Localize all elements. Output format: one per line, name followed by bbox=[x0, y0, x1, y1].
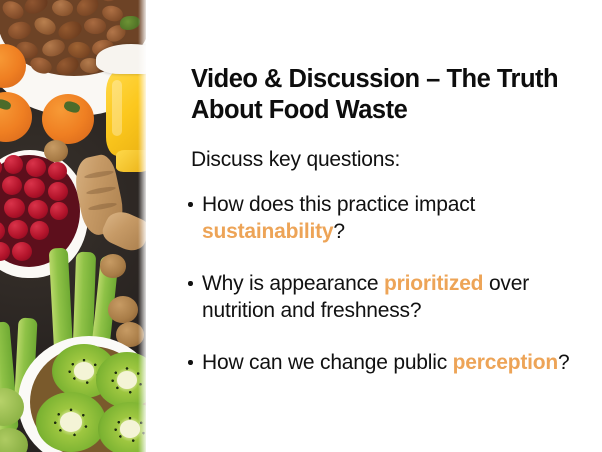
cranberry bbox=[8, 220, 28, 239]
bullet-highlight: prioritized bbox=[384, 272, 483, 295]
bullet-text-post: ? bbox=[558, 351, 569, 374]
bullet-dot-icon bbox=[188, 360, 193, 365]
food-photo-panel bbox=[0, 0, 146, 452]
cranberry bbox=[4, 198, 25, 218]
kiwi-slice bbox=[36, 392, 106, 452]
cranberry bbox=[2, 176, 22, 195]
bullet-dot-icon bbox=[188, 281, 193, 286]
bullet-highlight: sustainability bbox=[202, 220, 333, 243]
slide-lead-text: Discuss key questions: bbox=[191, 146, 400, 173]
photo-edge-fade bbox=[138, 0, 146, 452]
slide-title: Video & Discussion – The Truth About Foo… bbox=[191, 64, 566, 126]
cranberry bbox=[48, 162, 67, 180]
kiwi-seeds bbox=[49, 403, 94, 441]
cranberry bbox=[4, 155, 23, 174]
list-item: Why is appearance prioritized over nutri… bbox=[188, 270, 578, 324]
walnut bbox=[100, 254, 126, 278]
bullet-text-post: ? bbox=[333, 220, 344, 243]
bullet-text-pre: How can we change public bbox=[202, 351, 453, 374]
discussion-question-list: How does this practice impact sustainabi… bbox=[188, 191, 578, 376]
list-item: How can we change public perception? bbox=[188, 349, 578, 376]
food-photo bbox=[0, 0, 146, 452]
text-panel: Video & Discussion – The Truth About Foo… bbox=[146, 0, 602, 452]
cranberry bbox=[48, 182, 68, 201]
cranberry bbox=[30, 221, 49, 240]
cranberry bbox=[24, 178, 45, 198]
slide: Video & Discussion – The Truth About Foo… bbox=[0, 0, 602, 452]
cranberry bbox=[26, 158, 46, 177]
list-item: How does this practice impact sustainabi… bbox=[188, 191, 578, 245]
cranberry bbox=[50, 202, 68, 220]
cranberry bbox=[12, 242, 32, 261]
bullet-text-pre: Why is appearance bbox=[202, 272, 384, 295]
walnut bbox=[44, 140, 68, 162]
pepper-highlight bbox=[112, 80, 122, 136]
bullet-highlight: perception bbox=[453, 351, 558, 374]
bullet-text-pre: How does this practice impact bbox=[202, 193, 475, 216]
bullet-dot-icon bbox=[188, 202, 193, 207]
walnut bbox=[108, 296, 138, 323]
cranberry bbox=[28, 200, 48, 219]
